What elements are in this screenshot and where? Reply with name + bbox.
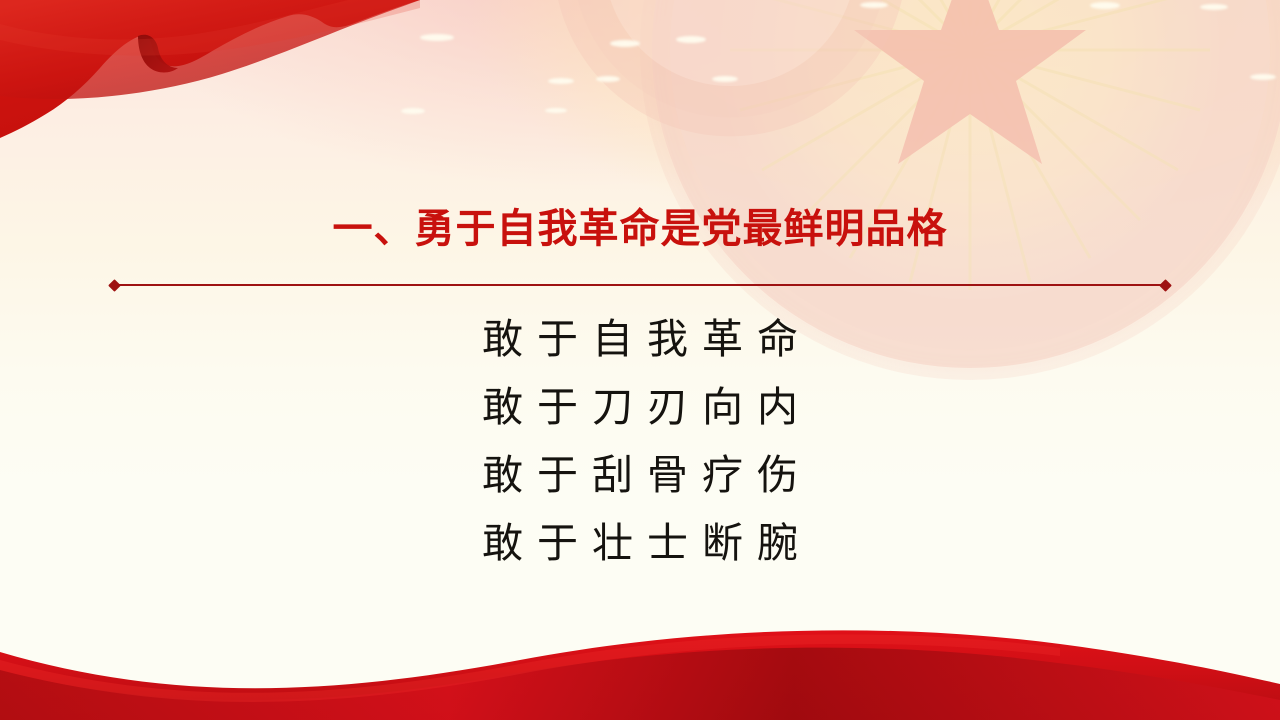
slide-canvas: 一、勇于自我革命是党最鲜明品格 敢于自我革命 敢于刀刃向内 敢于刮骨疗伤 敢于壮… — [0, 0, 1280, 720]
divider — [110, 278, 1170, 292]
page-title: 一、勇于自我革命是党最鲜明品格 — [0, 206, 1280, 252]
body-line: 敢于刀刃向内 — [0, 373, 1280, 441]
divider-diamond-right-icon — [1159, 279, 1172, 292]
body-text-block: 敢于自我革命 敢于刀刃向内 敢于刮骨疗伤 敢于壮士断腕 — [0, 305, 1280, 577]
body-line: 敢于壮士断腕 — [0, 509, 1280, 577]
body-line: 敢于刮骨疗伤 — [0, 441, 1280, 509]
body-line: 敢于自我革命 — [0, 305, 1280, 373]
divider-line — [116, 284, 1164, 286]
page-title-text: 一、勇于自我革命是党最鲜明品格 — [333, 206, 948, 252]
